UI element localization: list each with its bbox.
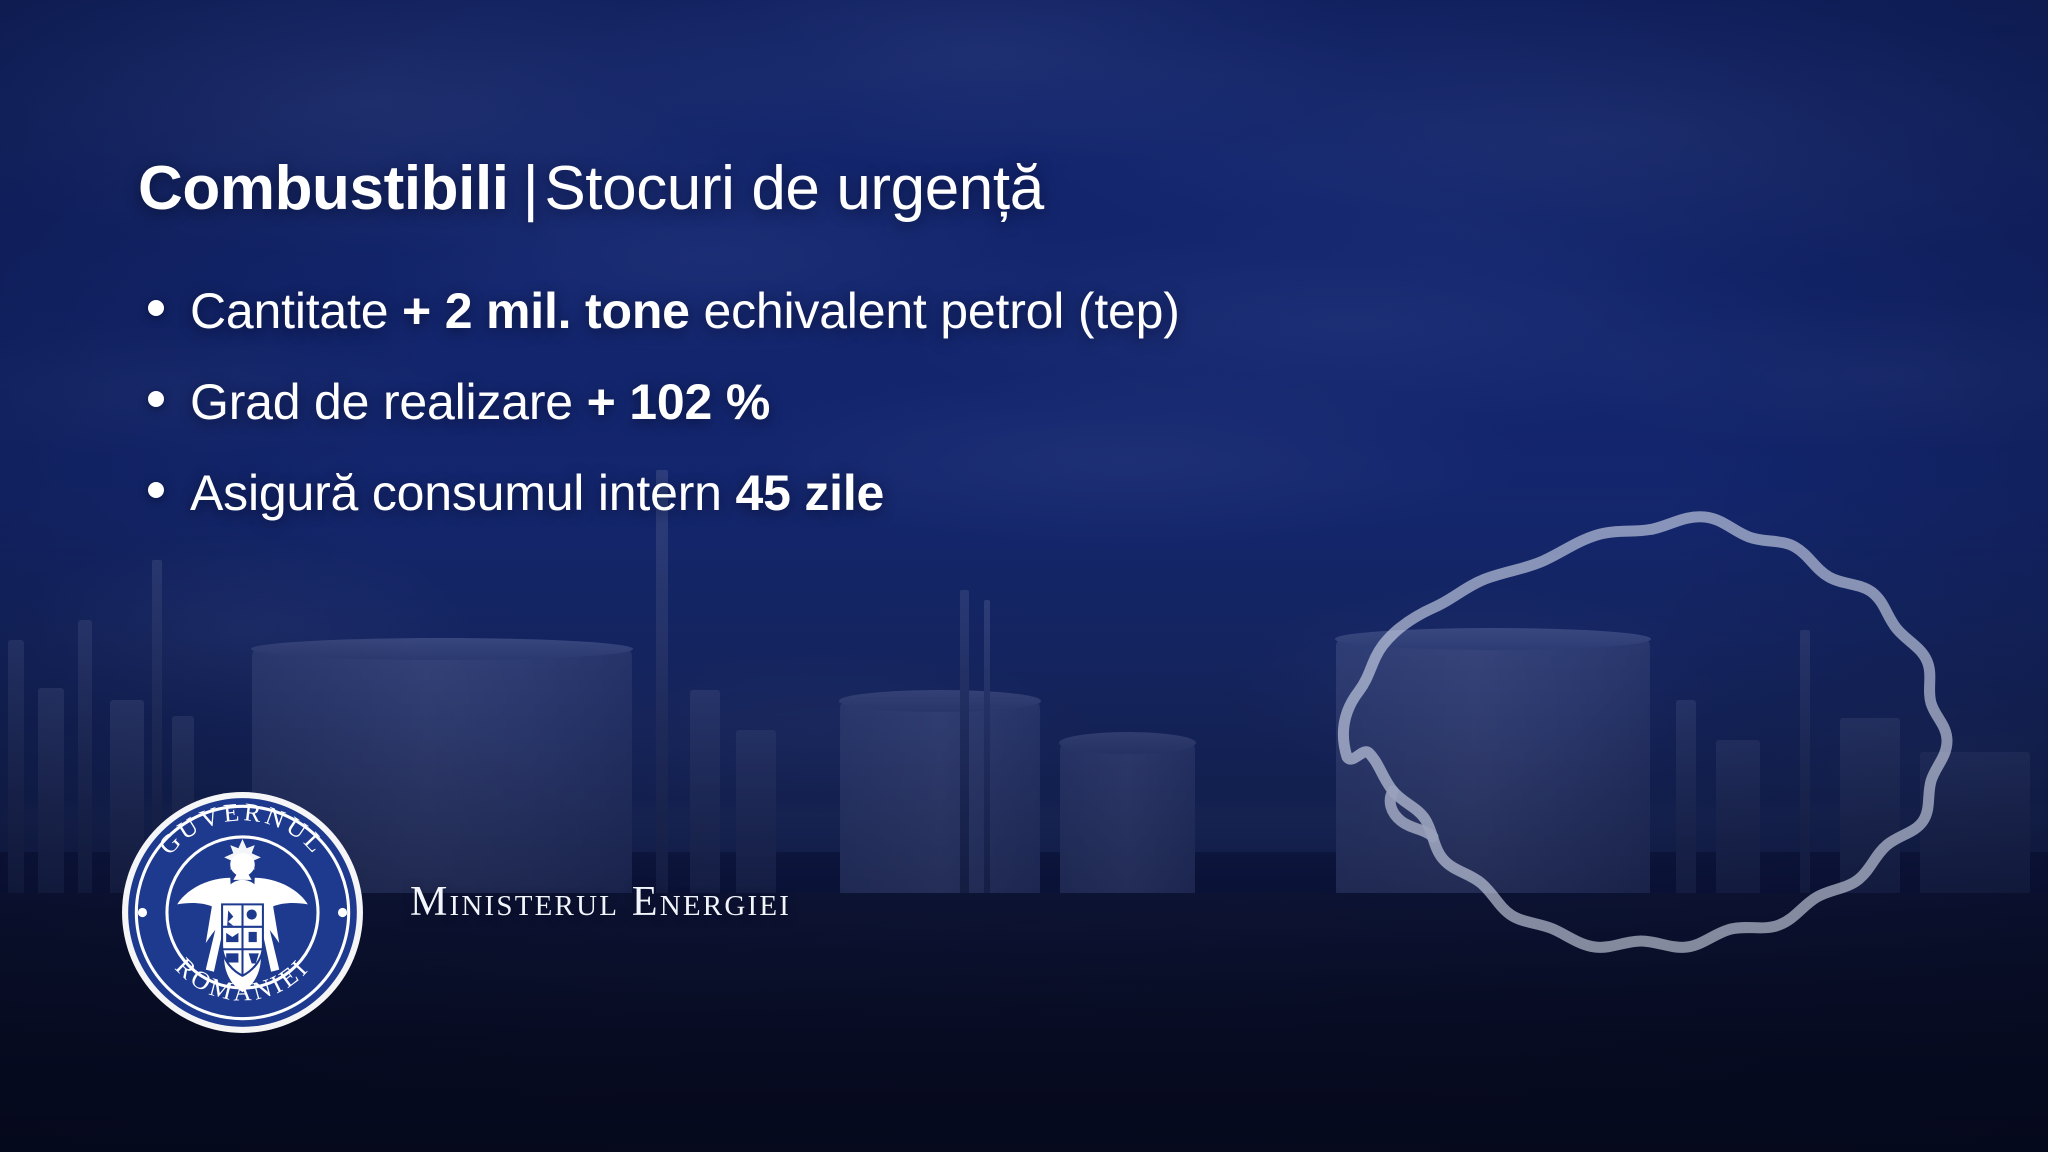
bullet-text: Grad de realizare + 102 % [190,373,770,432]
list-item: Asigură consumul intern 45 zile [148,464,1788,523]
bullet-3-lead: Asigură consumul intern [190,465,735,521]
page-title: Combustibili|Stocuri de urgență [138,154,1044,223]
title-rest-part: Stocuri de urgență [544,154,1043,223]
bullet-text: Cantitate + 2 mil. tone echivalent petro… [190,282,1180,341]
romanian-government-seal-icon: GUVERNUL ROMÂNIEI [120,790,365,1035]
bullet-dot-icon [148,300,164,316]
bullet-1-trail: echivalent petrol (tep) [690,283,1180,339]
list-item: Grad de realizare + 102 % [148,373,1788,432]
ministry-name: Ministerul Energiei [410,878,791,926]
bullet-text: Asigură consumul intern 45 zile [190,464,884,523]
title-separator: | [509,154,545,223]
list-item: Cantitate + 2 mil. tone echivalent petro… [148,282,1788,341]
bullet-1-lead: Cantitate [190,283,402,339]
bullet-1-emphasis: + 2 mil. tone [402,283,690,339]
bullet-3-emphasis: 45 zile [735,465,884,521]
bullet-list: Cantitate + 2 mil. tone echivalent petro… [148,282,1788,523]
bullet-dot-icon [148,482,164,498]
bullet-2-lead: Grad de realizare [190,374,587,430]
bullet-dot-icon [148,391,164,407]
title-bold-part: Combustibili [138,154,509,223]
bullet-2-emphasis: + 102 % [587,374,770,430]
romania-map-outline-icon [1275,495,1975,1055]
infographic-card: Combustibili|Stocuri de urgență Cantitat… [0,0,2048,1152]
